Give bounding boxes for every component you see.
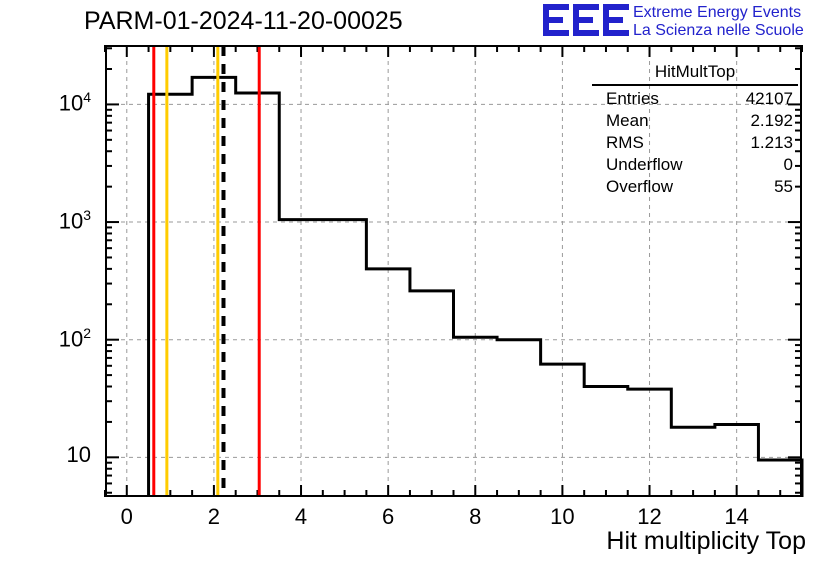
x-tick-label: 6: [368, 504, 408, 530]
root-canvas: PARM-01-2024-11-20-00025 Extreme Energy …: [0, 0, 836, 572]
stats-row-value: 55: [774, 177, 793, 197]
stats-row: Entries42107: [592, 89, 798, 110]
stats-row-value: 42107: [746, 89, 793, 109]
stats-row-key: Entries: [606, 89, 659, 109]
stats-row-key: RMS: [606, 133, 644, 153]
y-tick-label: 10: [67, 442, 91, 468]
stats-row-value: 1.213: [750, 133, 793, 153]
y-tick-label: 102: [59, 325, 91, 352]
x-axis-title: Hit multiplicity Top: [606, 527, 806, 556]
x-tick-label: 10: [542, 504, 582, 530]
stats-row-value: 0: [784, 155, 793, 175]
y-tick-label: 103: [59, 207, 91, 234]
stats-row: Underflow0: [592, 155, 798, 176]
x-tick-label: 8: [455, 504, 495, 530]
stats-box: HitMultTop Entries42107Mean2.192RMS1.213…: [592, 62, 798, 201]
stats-divider: [592, 84, 798, 86]
stats-row-key: Overflow: [606, 177, 673, 197]
stats-title: HitMultTop: [592, 62, 798, 82]
stats-row: Mean2.192: [592, 111, 798, 132]
stats-row: Overflow55: [592, 177, 798, 198]
stats-row-key: Underflow: [606, 155, 683, 175]
stats-row-key: Mean: [606, 111, 649, 131]
x-tick-label: 2: [194, 504, 234, 530]
stats-row-value: 2.192: [750, 111, 793, 131]
x-tick-label: 4: [281, 504, 321, 530]
x-tick-label: 0: [107, 504, 147, 530]
y-tick-label: 104: [59, 89, 91, 116]
stats-row: RMS1.213: [592, 133, 798, 154]
